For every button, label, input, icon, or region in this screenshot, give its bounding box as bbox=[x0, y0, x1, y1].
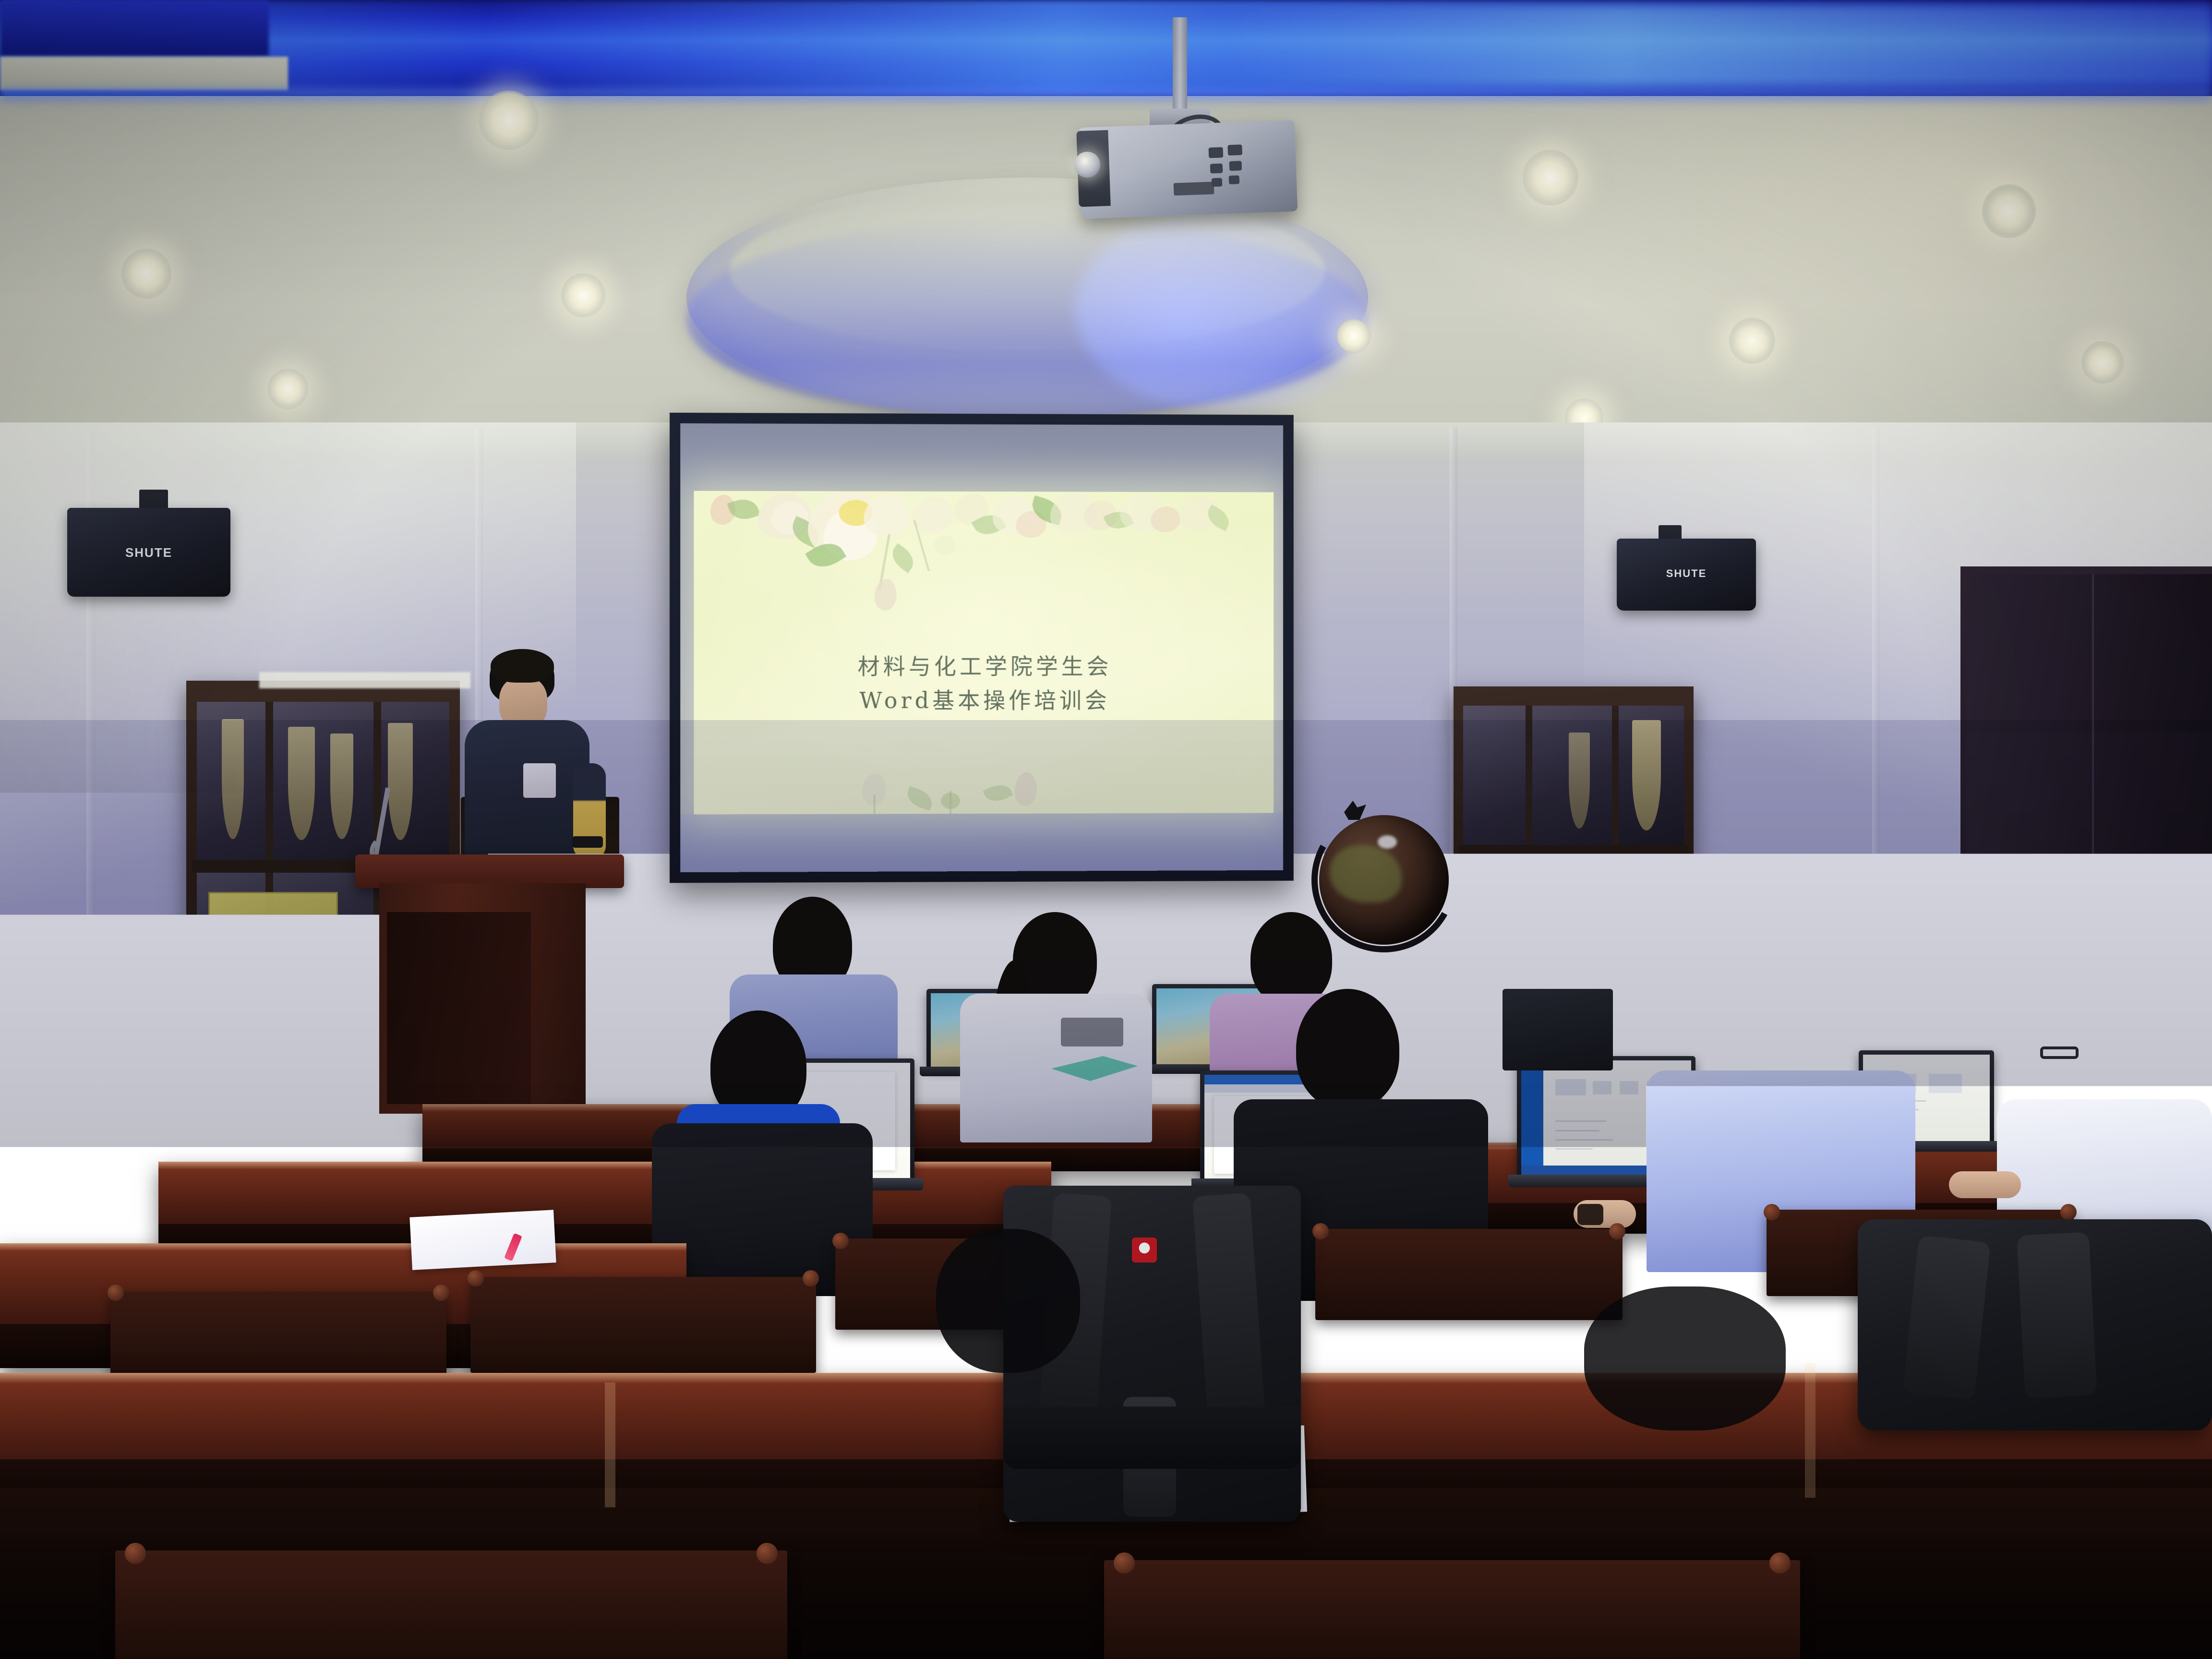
monitor-right-rear bbox=[1503, 989, 1613, 1070]
presenter-shirt-graphic bbox=[523, 763, 556, 798]
student-head-s6 bbox=[1296, 989, 1399, 1109]
projector-mount-pole bbox=[1173, 17, 1187, 113]
projector-adjust-knobs bbox=[1206, 143, 1251, 192]
bench-foreground-right bbox=[1104, 1560, 1800, 1659]
student-head-s7 bbox=[1719, 955, 1829, 1082]
ceiling-soffit-left bbox=[0, 57, 288, 90]
ceiling-cove-left bbox=[0, 0, 269, 57]
presenter-hair-front bbox=[491, 649, 554, 683]
ceiling-downlight-10 bbox=[1336, 319, 1371, 353]
wall-speaker-left: SHUTE bbox=[67, 508, 230, 597]
bench-back-left-2 bbox=[470, 1277, 816, 1373]
ceiling-medallion-blue-light bbox=[1075, 206, 1382, 413]
foreground-silhouette-left bbox=[936, 1229, 1080, 1373]
student-head-s3 bbox=[1250, 912, 1332, 1006]
paper-sheet-left bbox=[409, 1210, 556, 1270]
projector-lens bbox=[1074, 152, 1100, 178]
ceiling-downlight-7 bbox=[1729, 318, 1775, 364]
ceiling-cove-edge-glow bbox=[0, 89, 2212, 106]
slide-title-line-2: Word基本操作培训会 bbox=[694, 684, 1274, 718]
ceiling-downlight-3 bbox=[561, 273, 605, 317]
student-glasses-s8 bbox=[2040, 1046, 2079, 1059]
desk-foreground-seam-1 bbox=[605, 1382, 615, 1507]
podium-body-panel bbox=[387, 912, 531, 1104]
ceiling-downlight-5 bbox=[1523, 150, 1578, 205]
bench-back-right-1 bbox=[1315, 1229, 1623, 1320]
door-knob-right[interactable] bbox=[2145, 889, 2159, 928]
cabinet-top-papers-left bbox=[259, 672, 470, 688]
bench-foreground-left bbox=[115, 1551, 787, 1659]
ceiling-cove-right-glow bbox=[1224, 5, 2212, 86]
ceiling-downlight-6 bbox=[1982, 184, 2036, 238]
slide-title-block: 材料与化工学院学生会 Word基本操作培训会 bbox=[694, 649, 1274, 718]
desk-foreground-seam-3 bbox=[1805, 1363, 1815, 1498]
presenter-wristwatch bbox=[572, 836, 603, 848]
ceiling-downlight-4 bbox=[268, 369, 308, 409]
slide-title-line-1: 材料与化工学院学生会 bbox=[694, 649, 1274, 684]
backpack-center-bottom bbox=[1003, 1407, 1301, 1469]
backpack-right bbox=[1858, 1219, 2212, 1431]
student-shirt-print-s2 bbox=[1061, 1018, 1123, 1046]
photo-watermark: 西安工大材化学院 bbox=[2014, 1610, 2187, 1639]
projector-body bbox=[1079, 120, 1298, 219]
door-knob-left[interactable] bbox=[2105, 891, 2120, 930]
projection-screen-surface: 材料与化工学院学生会 Word基本操作培训会 bbox=[680, 423, 1283, 872]
projection-screen-frame: 材料与化工学院学生会 Word基本操作培训会 bbox=[670, 413, 1294, 883]
presentation-slide: 材料与化工学院学生会 Word基本操作培训会 bbox=[694, 491, 1274, 815]
globe-highlight bbox=[1378, 835, 1397, 849]
ceiling-downlight-1 bbox=[479, 90, 539, 150]
ceiling-downlight-8 bbox=[2081, 341, 2124, 384]
wall-speaker-right: SHUTE bbox=[1617, 539, 1756, 611]
screen-bottom-margin bbox=[680, 813, 1283, 872]
door-handle-right[interactable] bbox=[2114, 905, 2172, 912]
backpack-brand-logo bbox=[1132, 1238, 1157, 1262]
student-arm-s8 bbox=[1949, 1171, 2021, 1198]
student-wristband-s7 bbox=[1577, 1204, 1603, 1225]
ceiling-downlight-2 bbox=[121, 249, 171, 299]
speaker-brand-label-right: SHUTE bbox=[1617, 567, 1756, 580]
photograph-scene: SHUTE SHUTE bbox=[0, 0, 2212, 1659]
foreground-silhouette-right bbox=[1584, 1286, 1786, 1431]
screen-top-margin bbox=[680, 423, 1283, 493]
speaker-brand-label-left: SHUTE bbox=[67, 545, 230, 560]
